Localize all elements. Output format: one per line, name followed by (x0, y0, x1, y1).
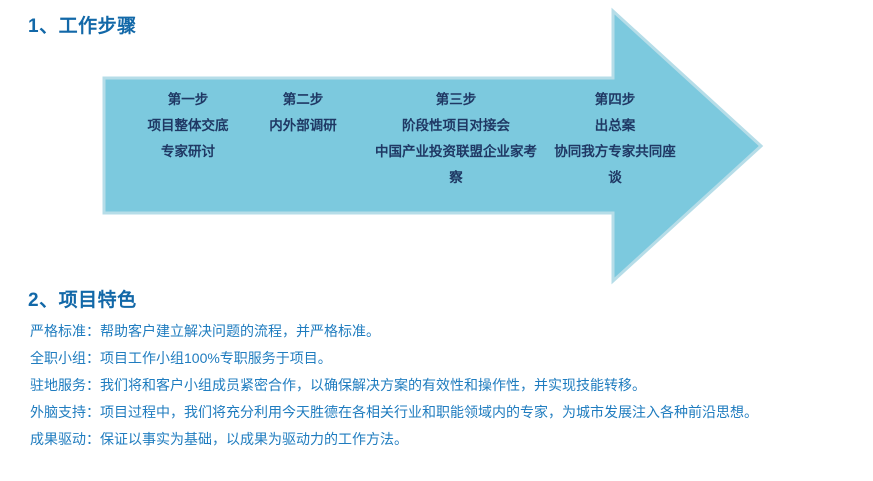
work-steps-arrow-diagram: 第一步 项目整体交底 专家研讨 第二步 内外部调研 第三步 阶段性项目对接会 中… (100, 5, 765, 287)
feature-item: 驻地服务：我们将和客户小组成员紧密合作，以确保解决方案的有效性和操作性，并实现技… (30, 372, 860, 399)
feature-item: 成果驱动：保证以事实为基础，以成果为驱动力的工作方法。 (30, 426, 860, 453)
step-3-line-1: 阶段性项目对接会 (372, 113, 540, 139)
step-2-line-1: 内外部调研 (248, 113, 358, 139)
project-features-list: 严格标准：帮助客户建立解决问题的流程，并严格标准。 全职小组：项目工作小组100… (30, 318, 860, 453)
step-2-title: 第二步 (248, 87, 358, 113)
feature-item: 外脑支持：项目过程中，我们将充分利用今天胜德在各相关行业和职能领域内的专家，为城… (30, 399, 860, 426)
step-column-3: 第三步 阶段性项目对接会 中国产业投资联盟企业家考察 (372, 87, 540, 191)
page-title-project-features: 2、项目特色 (28, 285, 137, 312)
step-column-2: 第二步 内外部调研 (248, 87, 358, 139)
step-1-line-1: 项目整体交底 (128, 113, 248, 139)
step-3-line-2: 中国产业投资联盟企业家考察 (375, 144, 537, 185)
feature-item: 全职小组：项目工作小组100%专职服务于项目。 (30, 345, 860, 372)
step-4-line-2: 协同我方专家共同座谈 (554, 144, 676, 185)
step-column-1: 第一步 项目整体交底 专家研讨 (128, 87, 248, 165)
feature-item: 严格标准：帮助客户建立解决问题的流程，并严格标准。 (30, 318, 860, 345)
step-1-line-2: 专家研讨 (128, 139, 248, 165)
step-column-4: 第四步 出总案 协同我方专家共同座谈 (550, 87, 680, 191)
step-3-title: 第三步 (372, 87, 540, 113)
step-1-title: 第一步 (128, 87, 248, 113)
step-4-line-1: 出总案 (550, 113, 680, 139)
step-4-title: 第四步 (550, 87, 680, 113)
